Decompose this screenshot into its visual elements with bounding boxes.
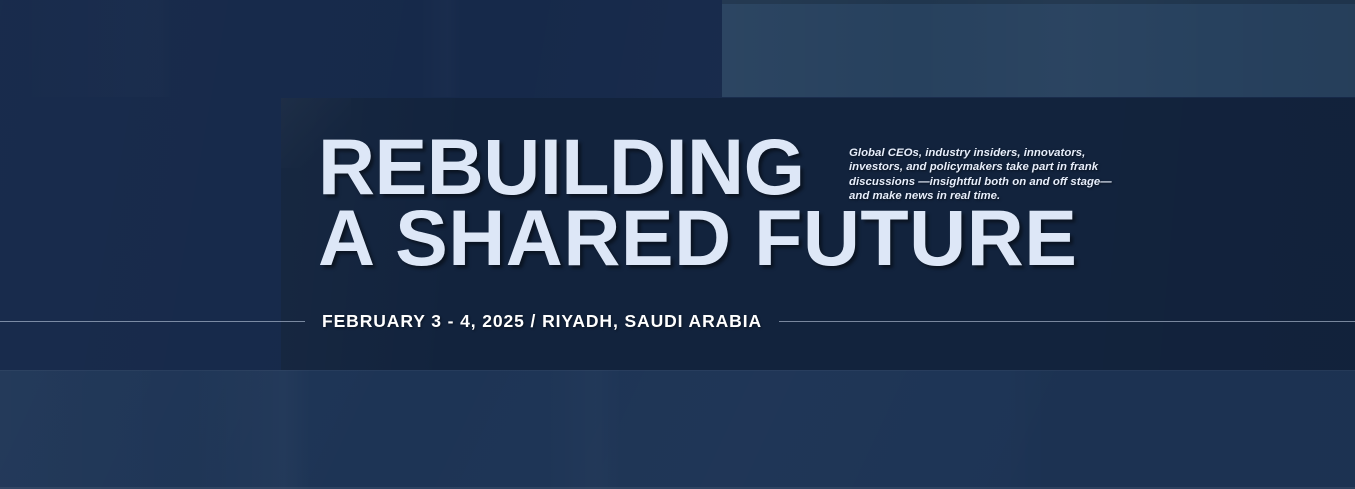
date-location-text: FEBRUARY 3 - 4, 2025 / RIYADH, SAUDI ARA… [305,311,779,332]
headline-line-2: A SHARED FUTURE [318,202,1077,273]
rule-right [779,321,1355,322]
event-banner: REBUILDING A SHARED FUTURE Global CEOs, … [0,0,1355,489]
date-location-row: FEBRUARY 3 - 4, 2025 / RIYADH, SAUDI ARA… [0,308,1355,334]
banner-description: Global CEOs, industry insiders, innovato… [849,146,1117,203]
banner-content: REBUILDING A SHARED FUTURE Global CEOs, … [0,0,1355,489]
rule-left [0,321,305,322]
